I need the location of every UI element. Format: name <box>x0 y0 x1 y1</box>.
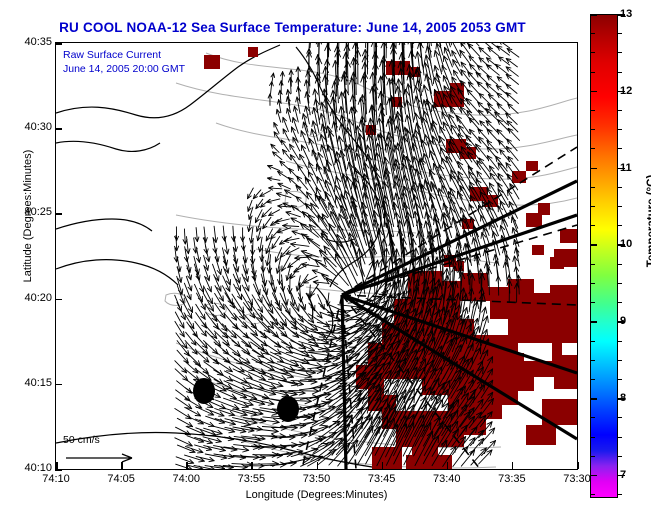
x-tick-mark <box>251 462 253 469</box>
current-vector-head <box>286 348 292 353</box>
x-tick-label: 73:55 <box>238 473 266 485</box>
current-vector <box>282 255 291 271</box>
current-vector <box>367 43 368 74</box>
colorbar-tick-mark <box>591 321 597 323</box>
current-vector <box>185 407 201 416</box>
current-vector-head <box>498 173 503 179</box>
colorbar-minor-tick <box>591 129 595 130</box>
x-tick-label: 73:35 <box>498 473 526 485</box>
surface-current-vectors <box>174 43 521 469</box>
x-tick-mark <box>317 462 319 469</box>
y-tick-label: 40:15 <box>4 377 52 389</box>
colorbar-minor-tick <box>591 302 595 303</box>
colorbar-tick-mark <box>591 14 597 16</box>
current-vector <box>232 464 252 465</box>
colorbar-minor-tick <box>618 187 622 188</box>
current-vector <box>278 183 291 189</box>
colorbar-minor-tick <box>591 437 595 438</box>
current-vector <box>506 93 519 104</box>
y-tick-mark <box>55 384 62 386</box>
current-vector-head <box>487 188 492 194</box>
x-tick-mark <box>56 462 58 469</box>
current-vector <box>269 210 280 216</box>
current-vector-head <box>458 161 463 167</box>
current-vector <box>278 171 290 179</box>
current-vector <box>196 419 215 426</box>
current-vector <box>215 409 235 416</box>
colorbar-minor-tick <box>591 110 595 111</box>
map-canvas <box>56 43 577 469</box>
current-vector <box>206 416 225 423</box>
current-vector <box>335 185 348 219</box>
current-vector <box>329 43 330 57</box>
x-axis-label: Longitude (Degrees:Minutes) <box>55 489 578 501</box>
colorbar-minor-tick <box>591 72 595 73</box>
colorbar-minor-tick <box>618 437 622 438</box>
colorbar-minor-tick <box>591 187 595 188</box>
current-vector <box>308 450 337 467</box>
current-vector <box>175 321 184 336</box>
current-vector-head <box>450 106 455 112</box>
x-tick-mark <box>121 462 123 469</box>
colorbar-minor-tick <box>591 379 595 380</box>
colorbar-tick-mark <box>618 244 625 246</box>
y-tick-mark <box>55 469 62 471</box>
sst-map-figure: RU COOL NOAA-12 Sea Surface Temperature:… <box>0 0 651 515</box>
colorbar-tick-mark <box>618 91 625 93</box>
colorbar-tick-mark <box>591 91 597 93</box>
current-vector-head <box>244 359 250 364</box>
current-vector-head <box>449 114 454 120</box>
colorbar-minor-tick <box>591 417 595 418</box>
colorbar-minor-tick <box>618 264 622 265</box>
scale-arrow-label: 50 cm/s <box>63 434 100 446</box>
x-tick-label: 73:40 <box>433 473 461 485</box>
colorbar-tick-mark <box>618 475 625 477</box>
colorbar-minor-tick <box>618 129 622 130</box>
colorbar-minor-tick <box>618 341 622 342</box>
colorbar-minor-tick <box>618 360 622 361</box>
colorbar-tick-mark <box>591 168 597 170</box>
x-tick-label: 73:30 <box>563 473 591 485</box>
colorbar-minor-tick <box>618 148 622 149</box>
annotation-line-1: Raw Surface Current <box>63 48 185 62</box>
colorbar-minor-tick <box>591 283 595 284</box>
current-vector-head <box>239 307 244 313</box>
current-vector <box>177 418 192 426</box>
current-vector <box>289 390 319 391</box>
colorbar-minor-tick <box>618 494 622 495</box>
colorbar-minor-tick <box>618 206 622 207</box>
colorbar-ticks: 13121110987 <box>590 0 651 515</box>
current-vector <box>175 361 187 373</box>
current-vector <box>507 49 519 58</box>
current-vector <box>263 436 286 437</box>
current-vector <box>497 46 509 55</box>
current-vector <box>260 191 271 197</box>
current-vector <box>301 324 326 338</box>
current-vector <box>337 234 357 275</box>
colorbar-minor-tick <box>591 494 595 495</box>
x-tick-label: 73:50 <box>303 473 331 485</box>
colorbar-minor-tick <box>618 33 622 34</box>
colorbar-minor-tick <box>591 33 595 34</box>
current-vector-head <box>201 314 205 319</box>
colorbar-minor-tick <box>591 225 595 226</box>
current-vector <box>270 352 298 366</box>
current-vector <box>291 380 317 382</box>
current-vector <box>252 464 279 465</box>
current-vector <box>248 188 254 199</box>
current-vector <box>234 359 255 371</box>
current-vector <box>177 381 192 393</box>
colorbar-minor-tick <box>618 456 622 457</box>
current-vector <box>506 84 517 93</box>
current-vector <box>301 418 329 427</box>
current-vector-head <box>290 144 294 149</box>
current-vector <box>338 51 339 85</box>
current-vector-head <box>451 125 456 131</box>
current-vector <box>309 351 343 352</box>
current-vector <box>386 43 387 58</box>
current-vector <box>272 286 280 307</box>
current-vector <box>508 157 519 172</box>
current-vector <box>478 110 490 122</box>
colorbar-tick-mark <box>618 168 625 170</box>
colorbar-minor-tick <box>591 206 595 207</box>
colorbar-minor-tick <box>618 110 622 111</box>
y-tick-mark <box>55 299 62 301</box>
figure-title: RU COOL NOAA-12 Sea Surface Temperature:… <box>0 20 585 35</box>
colorbar-minor-tick <box>618 379 622 380</box>
current-vector <box>309 67 310 86</box>
y-tick-label: 40:30 <box>4 121 52 133</box>
current-vector <box>233 380 253 389</box>
x-tick-label: 74:05 <box>107 473 135 485</box>
current-vector <box>395 181 405 226</box>
x-tick-mark <box>382 462 384 469</box>
colorbar-minor-tick <box>591 148 595 149</box>
current-vector-head <box>180 332 184 337</box>
current-vector-head <box>476 179 481 185</box>
current-vector <box>176 464 193 469</box>
current-vector <box>508 104 518 114</box>
y-tick-label: 40:35 <box>4 36 52 48</box>
x-tick-mark <box>186 462 188 469</box>
colorbar-minor-tick <box>618 302 622 303</box>
current-vector <box>294 264 309 272</box>
current-vector <box>225 305 237 321</box>
current-vector <box>310 138 318 160</box>
current-vector <box>281 333 306 349</box>
x-tick-mark <box>512 462 514 469</box>
colorbar-minor-tick <box>591 264 595 265</box>
current-annotation: Raw Surface Current June 14, 2005 20:00 … <box>63 48 185 76</box>
current-vector <box>288 257 301 267</box>
current-vector <box>487 76 498 85</box>
colorbar-tick-mark <box>618 398 625 400</box>
current-vector <box>497 104 508 114</box>
x-tick-mark <box>447 462 449 469</box>
current-vector <box>283 150 292 161</box>
current-vector <box>216 400 240 409</box>
current-vector <box>184 313 194 329</box>
current-vector <box>222 286 232 305</box>
scale-reference-arrow <box>66 454 132 462</box>
colorbar-minor-tick <box>618 417 622 418</box>
colorbar-tick-mark <box>618 14 625 16</box>
current-vector-head <box>258 307 263 313</box>
map-plot-area <box>55 42 578 470</box>
x-tick-mark <box>577 462 579 469</box>
current-vector <box>498 276 499 295</box>
colorbar-label: Temperature (°C) <box>646 141 651 301</box>
y-tick-mark <box>55 213 62 215</box>
current-vector <box>187 322 198 337</box>
current-vector <box>424 153 432 179</box>
y-tick-mark <box>55 128 62 130</box>
x-tick-label: 73:45 <box>368 473 396 485</box>
current-vector <box>506 74 518 84</box>
colorbar-minor-tick <box>591 456 595 457</box>
colorbar-minor-tick <box>618 72 622 73</box>
x-tick-label: 74:10 <box>42 473 70 485</box>
current-vector <box>430 194 441 229</box>
current-vector <box>187 436 204 442</box>
colorbar-tick-mark <box>618 321 625 323</box>
colorbar-tick-mark <box>591 398 597 400</box>
x-tick-label: 74:00 <box>172 473 200 485</box>
current-vector <box>310 43 312 48</box>
colorbar-minor-tick <box>618 283 622 284</box>
y-axis-label: Latitude (Degrees:Minutes) <box>22 136 34 296</box>
current-vector <box>252 295 263 313</box>
current-vector <box>242 362 265 374</box>
current-vector <box>242 274 249 291</box>
current-vector <box>309 303 322 318</box>
current-vector-head <box>489 183 494 189</box>
current-vector <box>506 59 517 67</box>
colorbar-minor-tick <box>591 341 595 342</box>
colorbar-minor-tick <box>618 225 622 226</box>
colorbar-minor-tick <box>591 360 595 361</box>
colorbar-minor-tick <box>591 52 595 53</box>
current-vector <box>512 217 519 236</box>
current-vector-head <box>452 77 457 83</box>
y-tick-mark <box>55 43 62 45</box>
annotation-line-2: June 14, 2005 20:00 GMT <box>63 62 185 76</box>
current-vector <box>222 324 236 338</box>
current-vector <box>485 43 497 48</box>
colorbar-tick-mark <box>591 244 597 246</box>
current-vector <box>206 331 221 346</box>
current-vector <box>508 128 519 140</box>
current-vector <box>479 43 491 48</box>
colorbar-tick-mark <box>591 475 597 477</box>
current-vector <box>495 64 508 74</box>
current-vector <box>488 48 499 56</box>
current-vector-head <box>227 376 233 381</box>
colorbar-minor-tick <box>618 52 622 53</box>
current-vector <box>436 73 443 93</box>
